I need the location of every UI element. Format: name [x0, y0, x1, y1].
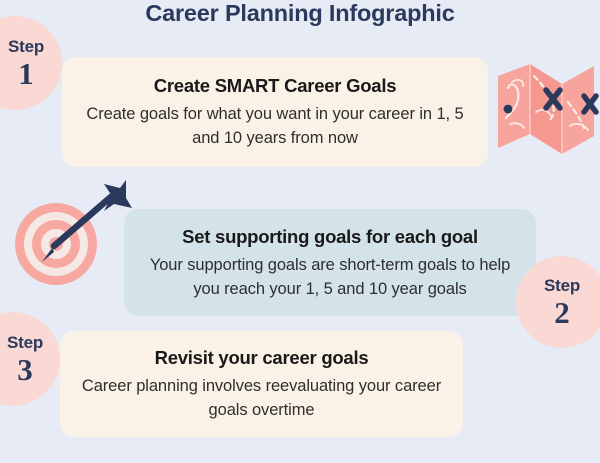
step-badge-1-number: 1: [18, 57, 34, 90]
step-card-3-body: Career planning involves reevaluating yo…: [60, 374, 463, 422]
step-badge-2-word: Step: [544, 276, 580, 295]
step-card-2[interactable]: Set supporting goals for each goal Your …: [124, 209, 536, 316]
step-badge-1: Step 1: [0, 16, 62, 110]
folded-treasure-map-icon: [496, 62, 600, 162]
step-badge-1-word: Step: [8, 37, 44, 56]
page-title: Career Planning Infographic: [0, 0, 600, 28]
infographic-canvas: Career Planning Infographic: [0, 0, 600, 463]
target-with-arrow-icon: [8, 178, 140, 288]
step-badge-3-number: 3: [17, 353, 33, 386]
step-badge-3-word: Step: [7, 333, 43, 352]
step-card-1-title: Create SMART Career Goals: [154, 74, 397, 98]
step-card-3-title: Revisit your career goals: [155, 346, 369, 370]
step-card-2-body: Your supporting goals are short-term goa…: [124, 253, 536, 301]
step-badge-2: Step 2: [516, 256, 600, 348]
step-badge-2-number: 2: [554, 296, 570, 329]
step-card-2-title: Set supporting goals for each goal: [182, 225, 478, 249]
step-card-3[interactable]: Revisit your career goals Career plannin…: [60, 331, 463, 437]
step-badge-3: Step 3: [0, 312, 60, 406]
step-card-1[interactable]: Create SMART Career Goals Create goals f…: [62, 57, 488, 167]
step-card-1-body: Create goals for what you want in your c…: [62, 102, 488, 150]
